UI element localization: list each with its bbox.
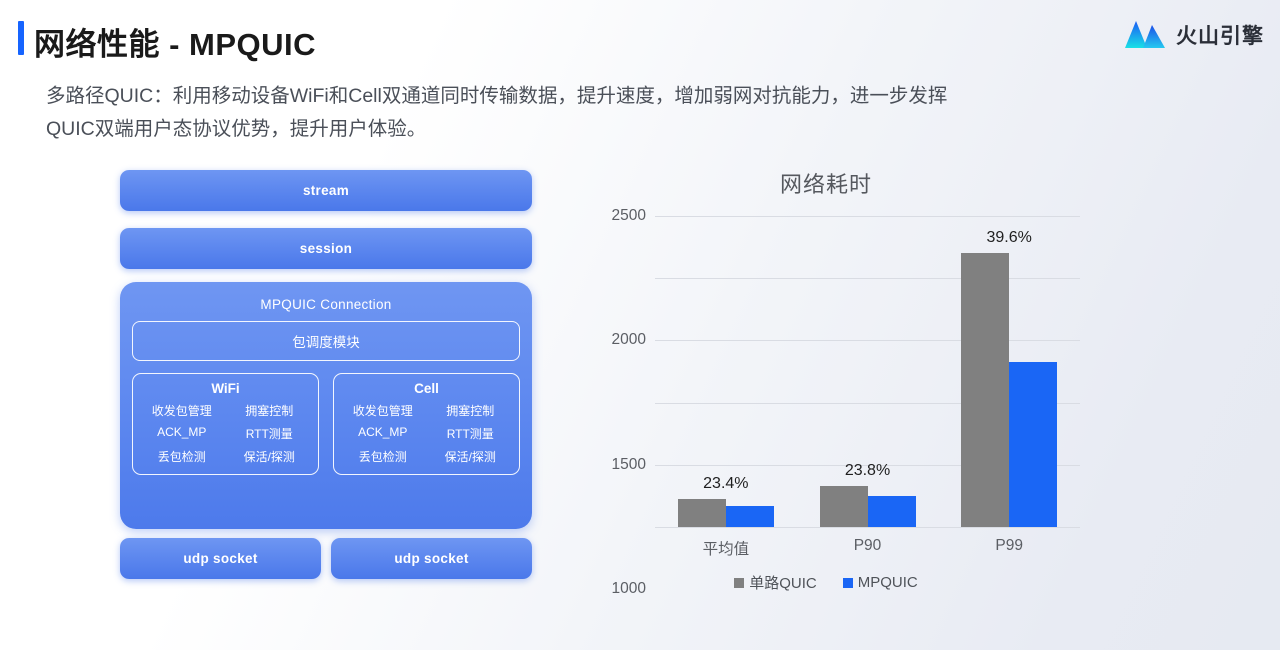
cell-feature: 拥塞控制 xyxy=(428,402,514,419)
mpquic-connection-title: MPQUIC Connection xyxy=(132,292,520,321)
wifi-feature: 丢包检测 xyxy=(139,448,225,465)
chart-x-tick-label: P90 xyxy=(854,537,882,555)
chart-plot-area: 2500200015001000500023.4%平均值23.8%P9039.6… xyxy=(655,216,1080,527)
chart-bar-groups: 23.4%平均值23.8%P9039.6%P99 xyxy=(655,216,1080,527)
chart-bar-mpquic xyxy=(868,496,916,527)
diagram-box-stream: stream xyxy=(120,170,532,211)
description-line-1: 多路径QUIC：利用移动设备WiFi和Cell双通道同时传输数据，提升速度，增加… xyxy=(46,80,1096,113)
diagram-box-session-label: session xyxy=(300,241,352,256)
wifi-path-title: WiFi xyxy=(139,381,312,402)
chart-y-tick-label: 2500 xyxy=(612,207,646,225)
wifi-path-feature-grid: 收发包管理 拥塞控制 ACK_MP RTT测量 丢包检测 保活/探测 xyxy=(139,402,312,465)
diagram-box-udp-socket-wifi: udp socket xyxy=(120,538,321,579)
cell-feature: RTT测量 xyxy=(428,425,514,442)
chart-x-tick-label: 平均值 xyxy=(703,537,750,559)
chart-y-tick-label: 2000 xyxy=(612,331,646,349)
chart-bar-single-quic xyxy=(678,499,726,527)
chart-legend: 单路QUICMPQUIC xyxy=(556,572,1096,593)
diagram-box-session: session xyxy=(120,228,532,269)
diagram-box-cell-path: Cell 收发包管理 拥塞控制 ACK_MP RTT测量 丢包检测 保活/探测 xyxy=(333,373,520,475)
chart-bar-mpquic xyxy=(1009,362,1057,527)
udp-socket-row: udp socket udp socket xyxy=(120,538,532,579)
chart-legend-label: 单路QUIC xyxy=(749,572,817,593)
wifi-feature: ACK_MP xyxy=(139,425,225,442)
chart-bar-single-quic xyxy=(961,253,1009,527)
chart-gridline: 0 xyxy=(655,527,1080,528)
diagram-box-wifi-path: WiFi 收发包管理 拥塞控制 ACK_MP RTT测量 丢包检测 保活/探测 xyxy=(132,373,319,475)
wifi-feature: 保活/探测 xyxy=(227,448,313,465)
cell-feature: ACK_MP xyxy=(340,425,426,442)
chart-bar-single-quic xyxy=(820,486,868,527)
mpquic-architecture-diagram: stream session MPQUIC Connection 包调度模块 W… xyxy=(120,170,532,582)
chart-legend-item: 单路QUIC xyxy=(734,572,817,593)
chart-bar-annotation: 23.8% xyxy=(845,462,890,480)
chart-bar-mpquic xyxy=(726,506,774,527)
chart-x-tick-label: P99 xyxy=(995,537,1023,555)
udp-socket-wifi-label: udp socket xyxy=(183,551,257,566)
chart-bar-annotation: 39.6% xyxy=(986,229,1031,247)
page-title: 网络性能 - MPQUIC xyxy=(34,19,316,64)
title-accent-bar xyxy=(18,21,24,55)
volcano-mountain-logo-icon xyxy=(1123,19,1167,50)
legend-swatch-icon xyxy=(843,578,853,588)
wifi-feature: RTT测量 xyxy=(227,425,313,442)
network-latency-chart: 网络耗时 2500200015001000500023.4%平均值23.8%P9… xyxy=(556,150,1096,600)
chart-bar-group: 23.4%平均值 xyxy=(655,216,797,527)
cell-feature: 丢包检测 xyxy=(340,448,426,465)
brand-name: 火山引擎 xyxy=(1176,20,1264,50)
cell-feature: 保活/探测 xyxy=(428,448,514,465)
legend-swatch-icon xyxy=(734,578,744,588)
cell-path-feature-grid: 收发包管理 拥塞控制 ACK_MP RTT测量 丢包检测 保活/探测 xyxy=(340,402,513,465)
diagram-box-mpquic-connection: MPQUIC Connection 包调度模块 WiFi 收发包管理 拥塞控制 … xyxy=(120,282,532,529)
chart-bar-annotation: 23.4% xyxy=(703,475,748,493)
page-header: 网络性能 - MPQUIC 火山引擎 xyxy=(0,0,1280,68)
diagram-box-stream-label: stream xyxy=(303,183,349,198)
wifi-feature: 拥塞控制 xyxy=(227,402,313,419)
cell-feature: 收发包管理 xyxy=(340,402,426,419)
chart-bar-group: 39.6%P99 xyxy=(938,216,1080,527)
wifi-feature: 收发包管理 xyxy=(139,402,225,419)
chart-title: 网络耗时 xyxy=(556,167,1096,199)
diagram-box-scheduler: 包调度模块 xyxy=(132,321,520,361)
cell-path-title: Cell xyxy=(340,381,513,402)
chart-legend-item: MPQUIC xyxy=(843,574,918,591)
brand-logo: 火山引擎 xyxy=(1123,19,1264,50)
chart-bar-pair xyxy=(961,216,1057,527)
description-text: 多路径QUIC：利用移动设备WiFi和Cell双通道同时传输数据，提升速度，增加… xyxy=(46,80,1096,146)
chart-bar-pair xyxy=(820,216,916,527)
chart-legend-label: MPQUIC xyxy=(858,574,918,591)
description-line-2: QUIC双端用户态协议优势，提升用户体验。 xyxy=(46,113,1096,146)
diagram-box-udp-socket-cell: udp socket xyxy=(331,538,532,579)
chart-y-tick-label: 1500 xyxy=(612,456,646,474)
path-box-row: WiFi 收发包管理 拥塞控制 ACK_MP RTT测量 丢包检测 保活/探测 … xyxy=(132,373,520,475)
chart-bar-group: 23.8%P90 xyxy=(797,216,939,527)
udp-socket-cell-label: udp socket xyxy=(394,551,468,566)
scheduler-label: 包调度模块 xyxy=(292,331,360,351)
